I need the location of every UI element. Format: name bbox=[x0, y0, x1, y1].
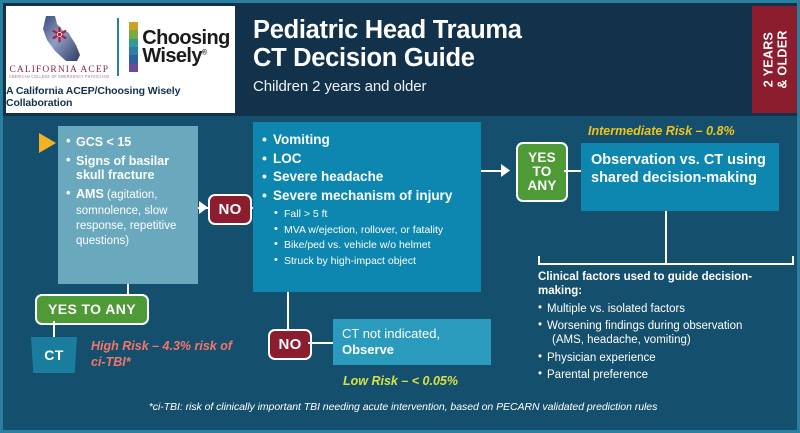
list-item: Parental preference bbox=[538, 368, 794, 382]
yes-to-any-label: YES TO ANY bbox=[48, 302, 136, 317]
yes-to-any-button-right[interactable]: YES TO ANY bbox=[516, 142, 568, 202]
arrowhead-icon bbox=[501, 164, 513, 177]
infographic-poster: CALIFORNIA ACEP AMERICAN COLLEGE OF EMER… bbox=[0, 0, 800, 433]
severe-mechanism-sublist: Fall > 5 ft MVA w/ejection, rollover, or… bbox=[273, 208, 473, 267]
no-label: NO bbox=[218, 201, 241, 218]
connector-line bbox=[287, 292, 289, 329]
list-item: Physician experience bbox=[538, 351, 794, 365]
title-line-1: Pediatric Head Trauma bbox=[253, 16, 522, 44]
list-item: Signs of basilar skull fracture bbox=[66, 154, 190, 183]
intermediate-risk-criteria-box: Vomiting LOC Severe headache Severe mech… bbox=[253, 122, 481, 292]
choosing-wisely-color-swatches bbox=[129, 22, 138, 72]
high-risk-criteria-box: GCS < 15 Signs of basilar skull fracture… bbox=[58, 126, 198, 284]
low-risk-label: Low Risk – < 0.05% bbox=[343, 374, 533, 388]
high-risk-label: High Risk – 4.3% risk of ci-TBI* bbox=[91, 338, 236, 370]
high-risk-criteria-list: GCS < 15 Signs of basilar skull fracture… bbox=[66, 135, 190, 248]
no-button-2[interactable]: NO bbox=[268, 329, 312, 360]
ct-not-indicated-box: CT not indicated, Observe bbox=[333, 319, 491, 365]
list-item: LOC bbox=[262, 151, 473, 168]
acep-org-subtitle: AMERICAN COLLEGE OF EMERGENCY PHYSICIANS bbox=[9, 75, 110, 80]
list-item: Multiple vs. isolated factors bbox=[538, 302, 794, 316]
clinical-factors-heading: Clinical factors used to guide decision-… bbox=[538, 271, 794, 299]
no-button-1[interactable]: NO bbox=[208, 194, 252, 225]
collaboration-caption: A California ACEP/Choosing Wisely Collab… bbox=[6, 85, 235, 109]
list-item: Severe headache bbox=[262, 169, 473, 186]
list-item: GCS < 15 bbox=[66, 135, 190, 150]
list-item: AMS (agitation, somnolence, slow respons… bbox=[66, 187, 190, 247]
ct-not-indicated-line-2: Observe bbox=[342, 342, 482, 358]
cw-line-2: Wisely® bbox=[142, 47, 229, 65]
entry-arrow-icon bbox=[39, 133, 56, 153]
age-banner: 2 YEARS & OLDER bbox=[752, 6, 800, 113]
logo-row: CALIFORNIA ACEP AMERICAN COLLEGE OF EMER… bbox=[6, 10, 235, 84]
connector-line bbox=[53, 321, 55, 337]
age-banner-line-1: 2 YEARS bbox=[762, 32, 776, 87]
no-label: NO bbox=[278, 336, 301, 353]
yes-to-any-label: YES TO ANY bbox=[527, 151, 556, 193]
california-acep-logo: CALIFORNIA ACEP AMERICAN COLLEGE OF EMER… bbox=[11, 15, 107, 79]
list-item: Fall > 5 ft bbox=[273, 208, 473, 221]
choosing-wisely-wordmark: Choosing Wisely® bbox=[142, 29, 229, 66]
connector-line bbox=[564, 170, 582, 172]
age-banner-label: 2 YEARS & OLDER bbox=[763, 30, 790, 88]
page-title: Pediatric Head Trauma CT Decision Guide bbox=[253, 17, 703, 72]
footnote: *ci-TBI: risk of clinically important TB… bbox=[3, 401, 800, 413]
intermediate-criteria-list: Vomiting LOC Severe headache Severe mech… bbox=[262, 132, 473, 267]
ct-not-indicated-line-1: CT not indicated, bbox=[342, 326, 440, 341]
list-item: Struck by high-impact object bbox=[273, 255, 473, 268]
age-banner-line-2: & OLDER bbox=[775, 30, 789, 88]
title-block: Pediatric Head Trauma CT Decision Guide … bbox=[253, 17, 703, 95]
california-state-icon bbox=[33, 15, 85, 63]
list-item: MVA w/ejection, rollover, or fatality bbox=[273, 224, 473, 237]
intermediate-risk-label: Intermediate Risk – 0.8% bbox=[588, 124, 788, 138]
list-item: Severe mechanism of injury Fall > 5 ft M… bbox=[262, 188, 473, 267]
decision-flow-canvas: GCS < 15 Signs of basilar skull fracture… bbox=[3, 116, 800, 433]
ct-label: CT bbox=[44, 347, 63, 363]
observation-box: Observation vs. CT using shared decision… bbox=[581, 143, 779, 211]
clinical-factors-list: Multiple vs. isolated factors Worsening … bbox=[538, 302, 794, 383]
logo-divider bbox=[117, 18, 119, 76]
page-subtitle: Children 2 years and older bbox=[253, 78, 703, 95]
header-bar: CALIFORNIA ACEP AMERICAN COLLEGE OF EMER… bbox=[3, 3, 800, 116]
connector-line bbox=[308, 342, 334, 344]
registered-mark-icon: ® bbox=[202, 49, 207, 56]
list-item: Bike/ped vs. vehicle w/o helmet bbox=[273, 239, 473, 252]
bracket-tick bbox=[538, 256, 540, 265]
ct-result-box: CT bbox=[31, 337, 77, 373]
logo-panel: CALIFORNIA ACEP AMERICAN COLLEGE OF EMER… bbox=[6, 6, 235, 113]
list-item: Vomiting bbox=[262, 132, 473, 149]
acep-org-name: CALIFORNIA ACEP bbox=[9, 65, 109, 75]
bracket-tick bbox=[792, 256, 794, 265]
choosing-wisely-logo: Choosing Wisely® bbox=[129, 22, 229, 72]
clinical-factors-panel: Clinical factors used to guide decision-… bbox=[538, 271, 794, 386]
connector-line bbox=[665, 211, 667, 264]
list-item: Worsening findings during observation(AM… bbox=[538, 319, 794, 347]
observation-text: Observation vs. CT using shared decision… bbox=[591, 152, 766, 186]
title-line-2: CT Decision Guide bbox=[253, 44, 475, 72]
